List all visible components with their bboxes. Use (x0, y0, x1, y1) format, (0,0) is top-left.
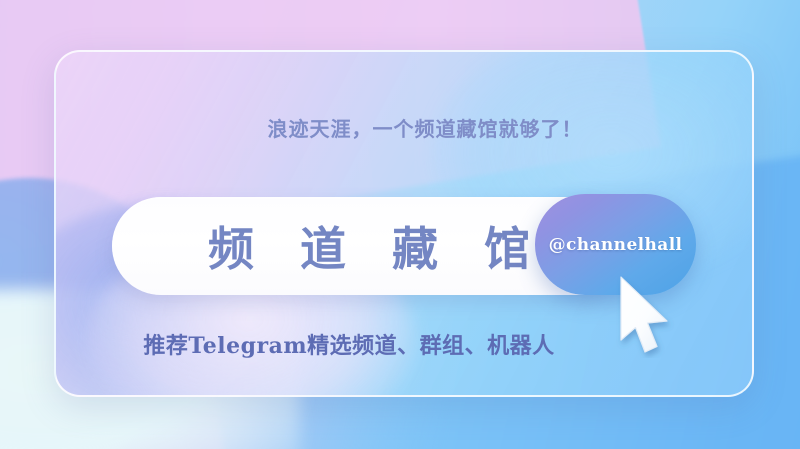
banner-stage: 浪迹天涯，一个频道藏馆就够了！ 频 道 藏 馆 @channelhall (0, 0, 800, 449)
card-content: 浪迹天涯，一个频道藏馆就够了！ 频 道 藏 馆 @channelhall (56, 52, 752, 395)
tagline-text: 浪迹天涯，一个频道藏馆就够了！ (56, 113, 752, 142)
handle-badge[interactable]: @channelhall (535, 194, 696, 295)
glass-card: 浪迹天涯，一个频道藏馆就够了！ 频 道 藏 馆 @channelhall (54, 50, 754, 397)
footnote-text: 推荐Telegram精选频道、群组、机器人 (56, 328, 752, 360)
brand-title: 频 道 藏 馆 (154, 197, 584, 295)
handle-label: @channelhall (549, 235, 683, 255)
